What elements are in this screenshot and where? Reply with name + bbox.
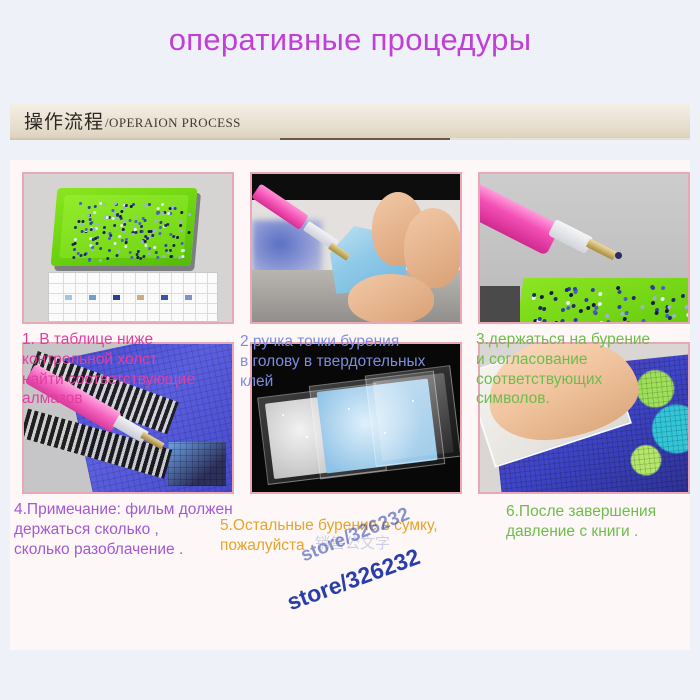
step-1-photo — [22, 172, 234, 324]
diamond-bead — [170, 205, 173, 208]
diamond-bead — [561, 319, 566, 323]
diamond-bead — [99, 247, 102, 250]
diamond-bead — [103, 226, 106, 229]
diamond-bead — [79, 202, 82, 205]
diamond-bead — [141, 230, 144, 233]
steps-panel: 1. В таблице ниже контрольной холст найт… — [10, 160, 690, 650]
diamond-bead — [163, 255, 166, 258]
diamond-bead — [161, 212, 164, 215]
step-2-caption: 2.ручка точки бурения в голову в твердот… — [240, 332, 476, 391]
diamond-bead — [129, 251, 132, 254]
diamond-bead — [598, 292, 603, 296]
step-6-caption: 6.После завершения давление с книги . — [506, 502, 700, 542]
diamond-bead — [187, 213, 190, 216]
diamond-bead — [139, 257, 142, 260]
diamond-bead — [90, 222, 93, 225]
diamond-bead — [108, 249, 111, 252]
diamond-bead — [686, 313, 690, 317]
diamond-bead — [623, 317, 628, 321]
diamond-bead — [143, 204, 146, 207]
diamond-bead — [79, 254, 82, 257]
diamond-bead — [597, 302, 602, 306]
diamond-bead — [93, 205, 96, 208]
color-chart-table — [48, 272, 218, 322]
diamond-bead — [115, 254, 118, 257]
diamond-bead — [187, 231, 190, 234]
diamond-bead — [573, 318, 578, 322]
diamond-bead — [165, 244, 168, 247]
diamond-bead — [172, 244, 175, 247]
diamond-bead — [89, 228, 92, 231]
diamond-bead — [538, 306, 543, 310]
diamond-bead — [161, 203, 164, 206]
diamond-bead — [148, 247, 151, 250]
diamond-bead — [80, 230, 83, 233]
diamond-bead — [667, 305, 672, 309]
diamond-bead — [661, 286, 666, 290]
diamond-bead — [617, 290, 622, 294]
diamond-bead — [72, 256, 75, 259]
diamond-bead — [158, 232, 161, 235]
step-1-caption: 1. В таблице ниже контрольной холст найт… — [22, 330, 248, 409]
diamond-bead — [124, 204, 127, 207]
diamond-bead — [539, 295, 544, 299]
diamond-bead — [546, 323, 551, 324]
diamond-bead — [124, 245, 127, 248]
diamond-bead — [554, 297, 559, 301]
diamond-bead — [113, 224, 116, 227]
diamond-bead — [159, 226, 162, 229]
diamond-bead — [108, 237, 111, 240]
thumb — [348, 274, 434, 324]
diamond-bead — [579, 309, 584, 313]
page-title: оперативные процедуры — [0, 22, 700, 58]
diamond-bead — [123, 223, 126, 226]
diamond-bead — [566, 301, 571, 305]
diamond-bead — [617, 305, 622, 309]
diamond-bead — [81, 223, 84, 226]
diamond-bead — [625, 311, 630, 315]
diamond-bead — [77, 220, 80, 223]
diamond-bead — [91, 246, 94, 249]
steps-grid: 1. В таблице ниже контрольной холст найт… — [10, 160, 690, 650]
diamond-bead — [76, 252, 79, 255]
diamond-bead — [103, 231, 106, 234]
diamond-bead — [131, 256, 134, 259]
step-3-caption: 3.держаться на бурение и согласование со… — [476, 330, 700, 409]
diamond-bead — [151, 234, 154, 237]
diamond-bead — [135, 253, 138, 256]
banner-title-english: /OPERAION PROCESS — [105, 115, 241, 131]
diamond-bead — [83, 253, 86, 256]
photo-dark-band — [252, 174, 460, 200]
banner-background: 操作流程 /OPERAION PROCESS — [10, 104, 690, 138]
section-banner: 操作流程 /OPERAION PROCESS — [10, 104, 690, 142]
diamond-bead — [154, 246, 157, 249]
diamond-bead — [176, 236, 179, 239]
diamond-bead — [156, 256, 159, 259]
diamond-bead — [564, 288, 569, 292]
diamond-bead — [73, 226, 76, 229]
diamond-bead — [128, 219, 131, 222]
diamond-bead — [117, 250, 120, 253]
diamond-bead — [586, 306, 591, 310]
diamond-bead — [672, 314, 677, 318]
diamond-bead — [550, 291, 555, 295]
diamond-bead — [179, 224, 182, 227]
diamond-bead — [542, 307, 547, 311]
tray-inner — [59, 195, 189, 258]
diamond-bead — [631, 296, 636, 300]
diamond-bead — [166, 223, 169, 226]
diamond-bead — [180, 229, 183, 232]
diamond-bead — [93, 211, 96, 214]
diamond-bead — [140, 225, 143, 228]
diamond-bead — [181, 255, 184, 258]
green-tray — [516, 278, 690, 324]
diamond-bead — [172, 235, 175, 238]
green-tray — [51, 188, 198, 266]
dark-corner — [480, 286, 520, 324]
diamond-bead — [165, 249, 168, 252]
diamond-bead — [180, 211, 183, 214]
diamond-bead — [561, 308, 566, 312]
diamond-bead — [623, 297, 628, 301]
banner-rule-accent — [280, 138, 450, 140]
diamond-bead — [134, 220, 137, 223]
diamond-bead-on-tip — [615, 252, 622, 259]
diamond-bead — [124, 238, 127, 241]
diamond-bead — [606, 320, 611, 324]
diamond-bead — [542, 319, 547, 323]
diamond-bead — [148, 203, 151, 206]
diamond-bead — [120, 210, 123, 213]
diamond-bead — [142, 255, 145, 258]
diamond-bead — [641, 319, 646, 323]
diamond-bead — [554, 321, 559, 324]
diamond-bead — [103, 203, 106, 206]
diamond-bead — [572, 304, 577, 308]
diamond-bead — [664, 309, 669, 313]
diamond-bead — [667, 316, 672, 320]
diamond-bead — [91, 249, 94, 252]
diamond-bead — [154, 229, 157, 232]
diamond-bead — [173, 207, 176, 210]
diamond-bead — [99, 202, 102, 205]
diamond-bead — [661, 297, 666, 301]
diamond-bead — [640, 305, 645, 309]
diamond-bead — [137, 250, 140, 253]
diamond-bead — [573, 290, 578, 294]
diamond-bead — [566, 306, 571, 310]
diamond-bead — [73, 248, 76, 251]
diamond-bead — [144, 244, 147, 247]
banner-rule-left — [10, 138, 280, 140]
diamond-bead — [144, 219, 147, 222]
diamond-bead — [96, 223, 99, 226]
diamond-bead — [124, 241, 127, 244]
diamond-bead — [135, 231, 138, 234]
diamond-bead — [155, 220, 158, 223]
step-4-caption: 4.Примечание: фильм должен держаться ско… — [14, 500, 246, 559]
diamond-bead — [565, 321, 570, 324]
diamond-bead — [116, 213, 119, 216]
diamond-bead — [74, 238, 77, 241]
diamond-bead — [88, 259, 91, 262]
diamond-bead — [652, 296, 657, 300]
diamond-bead — [92, 238, 95, 241]
diamond-bead — [615, 323, 620, 324]
diamond-bead — [73, 242, 76, 245]
banner-rule-tail — [450, 138, 690, 140]
diamond-bead — [81, 220, 84, 223]
diamond-bead — [132, 203, 135, 206]
diamond-bead — [650, 301, 655, 305]
diamond-bead — [155, 251, 158, 254]
diamond-bead — [590, 288, 595, 292]
diamond-bead — [681, 294, 686, 298]
diamond-bead — [95, 242, 98, 245]
diamond-bead — [181, 242, 184, 245]
diamond-bead — [156, 207, 159, 210]
diamond-bead — [167, 251, 170, 254]
diamond-bead — [147, 252, 150, 255]
diamond-bead — [131, 233, 134, 236]
diamond-bead — [684, 305, 689, 309]
diamond-bead — [599, 321, 604, 324]
diamond-bead — [671, 298, 676, 302]
diamond-bead — [88, 206, 91, 209]
canvas-detail-patch — [168, 442, 226, 486]
diamond-bead — [537, 317, 542, 321]
diamond-bead — [113, 242, 116, 245]
diamond-bead — [159, 221, 162, 224]
diamond-bead — [584, 298, 589, 302]
diamond-bead — [625, 321, 630, 324]
diamond-bead — [569, 293, 574, 297]
finger — [404, 208, 462, 288]
diamond-bead — [605, 314, 610, 318]
step-2-photo — [250, 172, 462, 324]
diamond-bead — [106, 257, 109, 260]
diamond-bead — [179, 220, 182, 223]
banner-title-chinese: 操作流程 — [24, 107, 104, 134]
diamond-bead — [654, 311, 659, 315]
diamond-bead — [118, 235, 121, 238]
banner-title-group: 操作流程 /OPERAION PROCESS — [24, 107, 241, 134]
diamond-bead — [135, 215, 138, 218]
diamond-bead — [99, 259, 102, 262]
step-3-photo — [478, 172, 690, 324]
